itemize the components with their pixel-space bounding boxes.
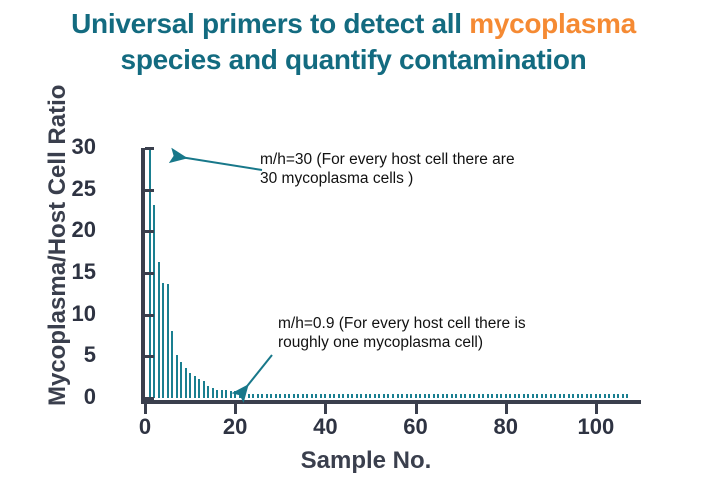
y-tick-mark: [145, 397, 154, 400]
bar: [297, 394, 299, 398]
bar: [514, 394, 516, 398]
y-tick-labels: 051015202530: [50, 92, 96, 412]
bar: [207, 386, 209, 399]
bar: [369, 394, 371, 398]
x-tick-mark: [415, 404, 418, 414]
x-axis-spine: [141, 400, 641, 404]
bar: [518, 394, 520, 398]
bar: [415, 394, 417, 398]
x-tick-label: 80: [476, 414, 536, 440]
bar: [180, 362, 182, 398]
bar: [406, 394, 408, 398]
bar: [311, 394, 313, 398]
bar: [221, 390, 223, 398]
bar: [464, 394, 466, 398]
x-tick-label: 0: [115, 414, 175, 440]
bar: [559, 394, 561, 398]
bar: [216, 390, 218, 398]
y-tick-label: 25: [50, 178, 96, 200]
bar: [333, 394, 335, 398]
bar: [158, 262, 160, 398]
x-tick-mark: [595, 404, 598, 414]
bar: [469, 394, 471, 398]
title-highlight-mycoplasma: mycoplasma: [469, 8, 636, 39]
x-tick-mark: [144, 404, 147, 414]
bar: [257, 394, 259, 398]
bar: [613, 394, 615, 398]
bar: [442, 394, 444, 398]
bar: [437, 394, 439, 398]
bar: [365, 394, 367, 398]
title-line-2: species and quantify contamination: [0, 42, 707, 78]
bar: [171, 331, 173, 398]
bar: [541, 394, 543, 398]
bar: [478, 394, 480, 398]
bar: [243, 394, 245, 398]
bar: [153, 205, 155, 398]
bar: [590, 394, 592, 398]
bar: [397, 394, 399, 398]
bar: [586, 394, 588, 398]
annotation-bottom: m/h=0.9 (For every host cell there is ro…: [278, 314, 668, 352]
bar: [401, 394, 403, 398]
bar: [351, 394, 353, 398]
y-tick-label: 20: [50, 219, 96, 241]
bar: [288, 394, 290, 398]
bar: [577, 394, 579, 398]
bar: [176, 355, 178, 398]
bar: [523, 394, 525, 398]
bar: [505, 394, 507, 398]
bar: [293, 394, 295, 398]
bar: [581, 394, 583, 398]
bar: [568, 394, 570, 398]
page-title: Universal primers to detect all mycoplas…: [0, 6, 707, 78]
title-line-1: Universal primers to detect all mycoplas…: [0, 6, 707, 42]
bar: [342, 394, 344, 398]
y-tick-label: 0: [50, 386, 96, 408]
x-tick-mark: [324, 404, 327, 414]
bar: [234, 391, 236, 399]
bar: [536, 394, 538, 398]
bar: [428, 394, 430, 398]
bar: [347, 394, 349, 398]
bar: [266, 394, 268, 398]
x-tick-label: 60: [386, 414, 446, 440]
bar: [491, 394, 493, 398]
bar: [198, 379, 200, 398]
bar: [315, 394, 317, 398]
bar: [550, 394, 552, 398]
x-tick-label: 20: [205, 414, 265, 440]
y-tick-mark: [145, 314, 154, 317]
bar: [509, 394, 511, 398]
bar: [306, 394, 308, 398]
bar: [527, 394, 529, 398]
x-tick-label: 40: [295, 414, 355, 440]
bar: [203, 381, 205, 399]
bar: [473, 394, 475, 398]
bar: [284, 394, 286, 398]
y-tick-mark: [145, 272, 154, 275]
bar: [622, 394, 624, 398]
bar: [194, 376, 196, 398]
bar: [455, 394, 457, 398]
bar: [496, 394, 498, 398]
bar: [374, 394, 376, 398]
bar-chart: Mycoplasma/Host Cell Ratio Sample No. 05…: [0, 92, 707, 484]
bar: [261, 394, 263, 398]
y-tick-label: 15: [50, 261, 96, 283]
bar: [433, 394, 435, 398]
bar: [482, 394, 484, 398]
bar: [424, 394, 426, 398]
bar: [360, 394, 362, 398]
title-text-a: Universal primers to detect all: [71, 8, 469, 39]
bar: [419, 394, 421, 398]
bar: [320, 394, 322, 398]
y-tick-mark: [145, 230, 154, 233]
annotation-top: m/h=30 (For every host cell there are 30…: [260, 150, 660, 188]
bar: [392, 394, 394, 398]
bar: [554, 394, 556, 398]
y-tick-label: 10: [50, 303, 96, 325]
bar: [608, 394, 610, 398]
y-tick-label: 5: [50, 344, 96, 366]
bar: [410, 394, 412, 398]
bar: [329, 394, 331, 398]
bar: [225, 390, 227, 398]
bar: [302, 394, 304, 398]
bar: [167, 284, 169, 398]
slide-root: Universal primers to detect all mycoplas…: [0, 0, 707, 484]
x-axis-label: Sample No.: [196, 447, 536, 475]
bar: [487, 394, 489, 398]
bar: [252, 394, 254, 398]
x-tick-mark: [505, 404, 508, 414]
bar: [279, 394, 281, 398]
bar: [626, 394, 628, 398]
bar: [500, 394, 502, 398]
bar: [189, 373, 191, 398]
bar: [378, 394, 380, 398]
y-tick-mark: [145, 147, 154, 150]
bar: [532, 394, 534, 398]
bar: [275, 394, 277, 398]
bar: [248, 394, 250, 398]
bar: [460, 394, 462, 398]
bar: [356, 394, 358, 398]
x-tick-mark: [234, 404, 237, 414]
bar: [604, 394, 606, 398]
y-tick-label: 30: [50, 136, 96, 158]
bar: [387, 394, 389, 398]
bar: [185, 368, 187, 398]
bar: [451, 394, 453, 398]
bar: [446, 394, 448, 398]
y-tick-mark: [145, 355, 154, 358]
bar: [212, 388, 214, 398]
bar: [383, 394, 385, 398]
bar: [324, 394, 326, 398]
bar: [545, 394, 547, 398]
bar: [595, 394, 597, 398]
bar: [270, 394, 272, 398]
bar: [617, 394, 619, 398]
bar: [338, 394, 340, 398]
bar: [572, 394, 574, 398]
x-tick-label: 100: [566, 414, 626, 440]
bar: [230, 391, 232, 399]
bar: [599, 394, 601, 398]
y-tick-mark: [145, 189, 154, 192]
bar: [239, 393, 241, 398]
bar: [162, 283, 164, 398]
bar: [563, 394, 565, 398]
